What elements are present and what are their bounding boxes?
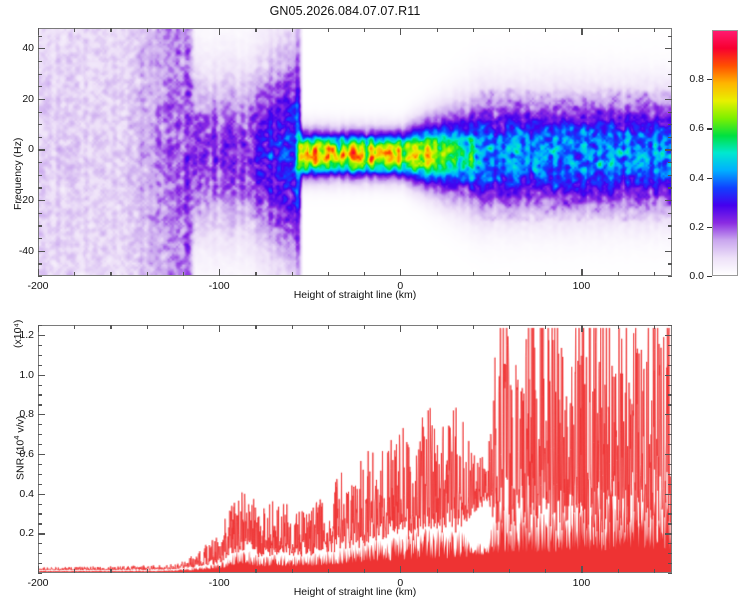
y-tick-right bbox=[668, 36, 672, 37]
y-tick bbox=[38, 494, 45, 495]
y-tick-right bbox=[668, 86, 672, 87]
y-tick-right bbox=[668, 434, 672, 435]
y-tick-right bbox=[668, 474, 672, 475]
y-tick-right bbox=[668, 385, 672, 386]
x-tick bbox=[509, 569, 510, 573]
y-tick bbox=[38, 86, 42, 87]
y-tick-label: 0.4 bbox=[4, 488, 34, 500]
colorbar-tick-label: 0.0 bbox=[676, 270, 704, 282]
y-tick bbox=[38, 414, 45, 415]
x-tick bbox=[581, 566, 582, 573]
y-tick-right bbox=[668, 563, 672, 564]
y-tick bbox=[38, 563, 42, 564]
y-tick-right bbox=[668, 345, 672, 346]
colorbar-tick-label: 0.4 bbox=[676, 172, 704, 184]
x-tick bbox=[219, 566, 220, 573]
y-tick-right bbox=[668, 523, 672, 524]
x-tick-top bbox=[147, 28, 148, 32]
y-tick-right bbox=[665, 200, 672, 201]
y-tick-right bbox=[668, 74, 672, 75]
x-tick bbox=[292, 569, 293, 573]
x-tick-top bbox=[364, 325, 365, 329]
y-tick bbox=[38, 36, 42, 37]
y-tick-right bbox=[665, 149, 672, 150]
colorbar-tick-label: 0.8 bbox=[676, 73, 704, 85]
y-tick-label: 40 bbox=[4, 42, 34, 54]
x-tick-top bbox=[147, 325, 148, 329]
colorbar-tick bbox=[707, 178, 712, 179]
y-tick bbox=[38, 137, 42, 138]
spectrogram-x-axis-title: Height of straight line (km) bbox=[294, 289, 417, 301]
x-tick-top bbox=[255, 28, 256, 32]
x-tick-top bbox=[364, 28, 365, 32]
y-tick bbox=[38, 404, 42, 405]
y-tick bbox=[38, 225, 42, 226]
y-tick bbox=[38, 175, 42, 176]
y-tick bbox=[38, 424, 42, 425]
x-tick bbox=[328, 272, 329, 276]
x-tick-top bbox=[509, 325, 510, 329]
x-tick bbox=[400, 269, 401, 276]
x-tick-top bbox=[545, 325, 546, 329]
x-tick bbox=[183, 272, 184, 276]
y-tick-right bbox=[668, 444, 672, 445]
x-tick bbox=[74, 272, 75, 276]
y-tick bbox=[38, 394, 42, 395]
y-tick bbox=[38, 434, 42, 435]
y-tick-right bbox=[665, 454, 672, 455]
y-tick bbox=[38, 325, 42, 326]
y-tick-right bbox=[668, 276, 672, 277]
x-tick-top bbox=[255, 325, 256, 329]
colorbar-tick-label: 0.6 bbox=[676, 122, 704, 134]
y-tick-right bbox=[668, 404, 672, 405]
y-tick-label: 0.2 bbox=[4, 527, 34, 539]
x-tick bbox=[618, 272, 619, 276]
x-tick bbox=[437, 569, 438, 573]
y-tick bbox=[38, 365, 42, 366]
y-tick-right bbox=[668, 175, 672, 176]
x-tick-top bbox=[545, 28, 546, 32]
x-tick-top bbox=[183, 325, 184, 329]
x-tick bbox=[74, 569, 75, 573]
y-tick-right bbox=[665, 533, 672, 534]
x-tick-top bbox=[328, 325, 329, 329]
x-tick bbox=[473, 272, 474, 276]
y-tick bbox=[38, 484, 42, 485]
x-tick bbox=[147, 569, 148, 573]
figure-root: GN05.2026.084.07.07.R11 -200-1000100-40-… bbox=[0, 0, 750, 600]
y-tick bbox=[38, 444, 42, 445]
y-tick-right bbox=[668, 573, 672, 574]
y-tick-right bbox=[668, 162, 672, 163]
y-tick bbox=[38, 375, 45, 376]
y-tick bbox=[38, 149, 45, 150]
spectrogram-panel bbox=[38, 28, 672, 276]
y-tick bbox=[38, 553, 42, 554]
y-tick-right bbox=[668, 424, 672, 425]
snr-y-axis-title: SNR (104 v/v) bbox=[12, 416, 27, 480]
x-tick-top bbox=[400, 28, 401, 35]
y-tick bbox=[38, 464, 42, 465]
x-tick-top bbox=[74, 28, 75, 32]
x-tick-top bbox=[654, 28, 655, 32]
y-tick bbox=[38, 124, 42, 125]
y-tick bbox=[38, 112, 42, 113]
x-tick-top bbox=[473, 325, 474, 329]
x-tick-label: -200 bbox=[27, 280, 48, 292]
x-tick-top bbox=[437, 28, 438, 32]
colorbar-gradient bbox=[712, 30, 738, 276]
x-tick bbox=[38, 269, 39, 276]
x-tick-label: -100 bbox=[209, 577, 230, 589]
y-tick bbox=[38, 251, 45, 252]
x-tick bbox=[147, 272, 148, 276]
colorbar-tick bbox=[707, 276, 712, 277]
y-tick bbox=[38, 61, 42, 62]
y-tick bbox=[38, 335, 45, 336]
y-tick-right bbox=[668, 504, 672, 505]
y-tick-label: -40 bbox=[4, 245, 34, 257]
y-tick bbox=[38, 200, 45, 201]
y-tick-right bbox=[668, 112, 672, 113]
x-tick bbox=[183, 569, 184, 573]
x-tick-top bbox=[473, 28, 474, 32]
y-tick-right bbox=[668, 61, 672, 62]
snr-panel bbox=[38, 325, 672, 573]
y-tick bbox=[38, 385, 42, 386]
x-tick-top bbox=[38, 28, 39, 35]
y-tick-right bbox=[668, 137, 672, 138]
y-tick-right bbox=[668, 543, 672, 544]
x-tick-label: -100 bbox=[209, 280, 230, 292]
y-tick-right bbox=[668, 394, 672, 395]
y-tick bbox=[38, 238, 42, 239]
y-tick bbox=[38, 99, 45, 100]
snr-trace bbox=[39, 326, 671, 572]
y-tick-label: 1.0 bbox=[4, 369, 34, 381]
y-tick-right bbox=[668, 553, 672, 554]
x-tick bbox=[255, 569, 256, 573]
page-title: GN05.2026.084.07.07.R11 bbox=[0, 4, 690, 18]
x-tick bbox=[509, 272, 510, 276]
y-tick bbox=[38, 263, 42, 264]
y-tick bbox=[38, 345, 42, 346]
x-tick-top bbox=[400, 325, 401, 332]
y-tick-right bbox=[668, 513, 672, 514]
y-tick bbox=[38, 474, 42, 475]
x-tick-top bbox=[292, 28, 293, 32]
y-tick bbox=[38, 187, 42, 188]
colorbar-tick-label: 0.2 bbox=[676, 221, 704, 233]
x-tick bbox=[437, 272, 438, 276]
x-tick-top bbox=[654, 325, 655, 329]
x-tick bbox=[292, 272, 293, 276]
x-tick-label: -200 bbox=[27, 577, 48, 589]
x-tick bbox=[545, 272, 546, 276]
x-tick bbox=[255, 272, 256, 276]
y-tick bbox=[38, 48, 45, 49]
x-tick bbox=[581, 269, 582, 276]
x-tick-top bbox=[618, 325, 619, 329]
y-tick bbox=[38, 74, 42, 75]
y-tick-right bbox=[668, 187, 672, 188]
x-tick bbox=[364, 569, 365, 573]
y-tick bbox=[38, 213, 42, 214]
x-tick bbox=[219, 269, 220, 276]
y-tick-right bbox=[668, 464, 672, 465]
y-tick bbox=[38, 513, 42, 514]
y-tick-right bbox=[665, 48, 672, 49]
x-tick-top bbox=[219, 325, 220, 332]
y-tick-right bbox=[668, 365, 672, 366]
y-tick bbox=[38, 573, 42, 574]
x-tick bbox=[473, 569, 474, 573]
x-tick-top bbox=[437, 325, 438, 329]
x-tick-top bbox=[292, 325, 293, 329]
x-tick bbox=[38, 566, 39, 573]
colorbar-tick bbox=[707, 128, 712, 129]
y-tick-right bbox=[665, 494, 672, 495]
x-tick bbox=[110, 272, 111, 276]
x-tick-top bbox=[110, 28, 111, 32]
y-tick bbox=[38, 276, 42, 277]
y-tick-right bbox=[668, 484, 672, 485]
y-tick-right bbox=[668, 124, 672, 125]
x-tick-top bbox=[509, 28, 510, 32]
x-tick-top bbox=[581, 28, 582, 35]
x-tick bbox=[654, 272, 655, 276]
x-tick bbox=[654, 569, 655, 573]
y-tick-right bbox=[668, 263, 672, 264]
y-tick-right bbox=[668, 325, 672, 326]
y-tick-right bbox=[668, 225, 672, 226]
x-tick-top bbox=[219, 28, 220, 35]
y-tick bbox=[38, 355, 42, 356]
snr-exponent-label: (x10⁴) bbox=[12, 320, 24, 348]
y-tick-label: 20 bbox=[4, 93, 34, 105]
colorbar-tick bbox=[707, 79, 712, 80]
spectrogram-image bbox=[39, 29, 671, 275]
y-tick-right bbox=[668, 213, 672, 214]
x-tick bbox=[618, 569, 619, 573]
x-tick-top bbox=[581, 325, 582, 332]
colorbar bbox=[712, 30, 738, 276]
x-tick bbox=[364, 272, 365, 276]
snr-x-axis-title: Height of straight line (km) bbox=[294, 586, 417, 598]
y-tick bbox=[38, 533, 45, 534]
y-tick bbox=[38, 162, 42, 163]
spectrogram-y-axis-title: Frequency (Hz) bbox=[12, 138, 24, 210]
y-tick-right bbox=[665, 251, 672, 252]
y-tick-right bbox=[668, 355, 672, 356]
y-tick-right bbox=[665, 414, 672, 415]
y-tick-right bbox=[665, 99, 672, 100]
y-tick-right bbox=[665, 375, 672, 376]
x-tick-top bbox=[183, 28, 184, 32]
y-tick bbox=[38, 543, 42, 544]
x-tick-label: 100 bbox=[573, 280, 591, 292]
x-tick bbox=[400, 566, 401, 573]
colorbar-tick bbox=[707, 227, 712, 228]
x-tick-top bbox=[74, 325, 75, 329]
x-tick-label: 100 bbox=[573, 577, 591, 589]
y-tick-right bbox=[665, 335, 672, 336]
y-tick bbox=[38, 523, 42, 524]
y-tick bbox=[38, 504, 42, 505]
y-tick-right bbox=[668, 238, 672, 239]
x-tick-top bbox=[618, 28, 619, 32]
x-tick-top bbox=[328, 28, 329, 32]
x-tick bbox=[545, 569, 546, 573]
x-tick-top bbox=[110, 325, 111, 329]
x-tick bbox=[110, 569, 111, 573]
y-tick bbox=[38, 454, 45, 455]
x-tick bbox=[328, 569, 329, 573]
